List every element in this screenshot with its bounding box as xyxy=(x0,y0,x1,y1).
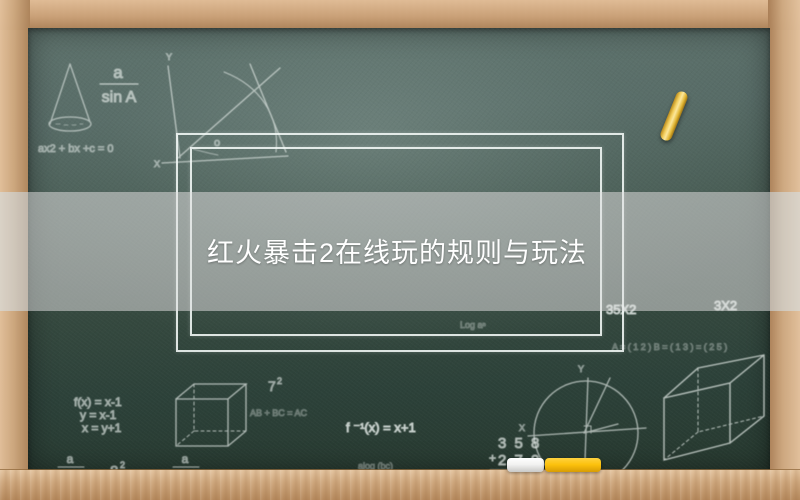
seven-exponent: 2 xyxy=(277,376,282,386)
sine-rule-denominator: sin A xyxy=(102,89,137,106)
chalk-ledge xyxy=(0,470,800,500)
addend-one: 3 5 8 xyxy=(498,435,541,452)
segment-addition: AB + BC = AC xyxy=(250,408,308,418)
axis-label-x-top-left: X xyxy=(154,159,160,169)
ledge-yellow-chalk xyxy=(545,458,601,472)
quadratic-equation: ax2 + bx +c = 0 xyxy=(38,143,114,155)
function-equations: f(x) = x-1 y = x-1 x = y+1 xyxy=(74,395,122,435)
seven-squared: 7 2 xyxy=(268,376,282,394)
cube-figure-right xyxy=(664,355,764,460)
frame-top-edge xyxy=(0,0,800,30)
seven-base: 7 xyxy=(268,378,276,394)
sine-rule-bc-num: a xyxy=(182,452,189,466)
addition-operator: + xyxy=(489,451,496,465)
sine-rule-top-left: a sin A xyxy=(100,63,138,106)
sine-rule-numerator: a xyxy=(113,63,123,82)
axis-label-y-bottom-right: Y xyxy=(578,364,584,374)
fx-line-3: x = y+1 xyxy=(82,421,122,435)
fx-line-1: f(x) = x-1 xyxy=(74,395,122,409)
sine-rule-bl-num: a xyxy=(67,452,74,466)
axis-label-x-bottom-right: X xyxy=(519,423,525,433)
fx-line-2: y = x-1 xyxy=(80,408,117,422)
inverse-function: f ⁻¹(x) = x+1 xyxy=(346,420,416,435)
cube-figure-center xyxy=(176,384,246,446)
page-title: 红火暴击2在线玩的规则与玩法 xyxy=(207,236,587,270)
matrix-expression: A = ( 1 2 ) B = ( 1 3 ) = ( 2 5 ) xyxy=(612,342,727,352)
ledge-white-chalk xyxy=(507,458,544,472)
axis-label-y-top-left: Y xyxy=(166,52,172,62)
chalkboard-banner: a sin A Y X o ax2 + bx +c = 0 xyxy=(0,0,800,500)
cone-figure xyxy=(49,64,91,131)
floating-yellow-chalk xyxy=(659,90,690,143)
